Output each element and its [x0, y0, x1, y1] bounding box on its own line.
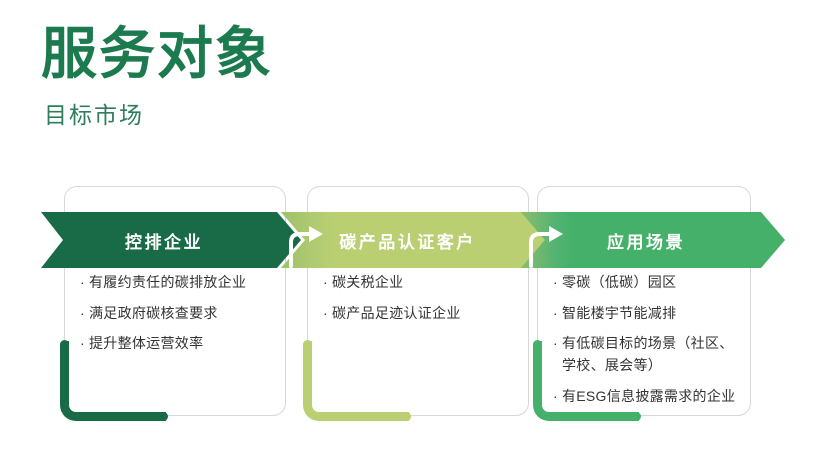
page-title: 服务对象	[41, 22, 741, 86]
list-item: · 碳产品足迹认证企业	[323, 303, 519, 325]
list-item-label: 满足政府碳核查要求	[89, 303, 276, 325]
list-item-label: 提升整体运营效率	[89, 333, 276, 355]
corner-bracket-accent	[303, 341, 409, 421]
list-item: · 有低碳目标的场景（社区、学校、展会等）	[553, 333, 741, 376]
bullet-dot-icon: ·	[80, 333, 85, 355]
list-item: · 智能楼宇节能减排	[553, 303, 741, 325]
list-item: · 提升整体运营效率	[80, 333, 276, 355]
banner-label: 应用场景	[607, 228, 685, 253]
banner-label: 控排企业	[125, 228, 203, 253]
bullet-dot-icon: ·	[553, 386, 558, 408]
list-item: · 有ESG信息披露需求的企业	[553, 386, 741, 408]
process-banner-row: 控排企业 碳产品认证客户 应用场景	[0, 212, 822, 268]
list-item-label: 碳关税企业	[332, 272, 519, 294]
list-item-label: 有ESG信息披露需求的企业	[562, 386, 741, 408]
page-subtitle: 目标市场	[44, 102, 741, 130]
list-item: · 满足政府碳核查要求	[80, 303, 276, 325]
bullet-dot-icon: ·	[323, 272, 328, 294]
bullet-list-3: · 零碳（低碳）园区 · 智能楼宇节能减排 · 有低碳目标的场景（社区、学校、展…	[537, 272, 751, 416]
banner-chevron-1[interactable]: 控排企业	[41, 212, 301, 268]
list-item: · 零碳（低碳）园区	[553, 272, 741, 294]
bullet-dot-icon: ·	[553, 333, 558, 355]
banner-chevron-3[interactable]: 应用场景	[521, 212, 785, 268]
list-item: · 有履约责任的碳排放企业	[80, 272, 276, 294]
bullet-list-2: · 碳关税企业 · 碳产品足迹认证企业	[307, 272, 529, 333]
bullet-dot-icon: ·	[80, 303, 85, 325]
list-item-label: 有低碳目标的场景（社区、学校、展会等）	[562, 333, 741, 376]
bullet-list-1: · 有履约责任的碳排放企业 · 满足政府碳核查要求 · 提升整体运营效率	[64, 272, 286, 364]
slide-header: 服务对象 目标市场	[41, 22, 741, 130]
list-item-label: 零碳（低碳）园区	[562, 272, 741, 294]
list-item-label: 有履约责任的碳排放企业	[89, 272, 276, 294]
list-item-label: 碳产品足迹认证企业	[332, 303, 519, 325]
list-item: · 碳关税企业	[323, 272, 519, 294]
list-item-label: 智能楼宇节能减排	[562, 303, 741, 325]
bullet-dot-icon: ·	[553, 303, 558, 325]
banner-chevron-2[interactable]: 碳产品认证客户	[281, 212, 548, 268]
bullet-dot-icon: ·	[553, 272, 558, 294]
bullet-dot-icon: ·	[80, 272, 85, 294]
bullet-dot-icon: ·	[323, 303, 328, 325]
banner-label: 碳产品认证客户	[339, 228, 476, 253]
